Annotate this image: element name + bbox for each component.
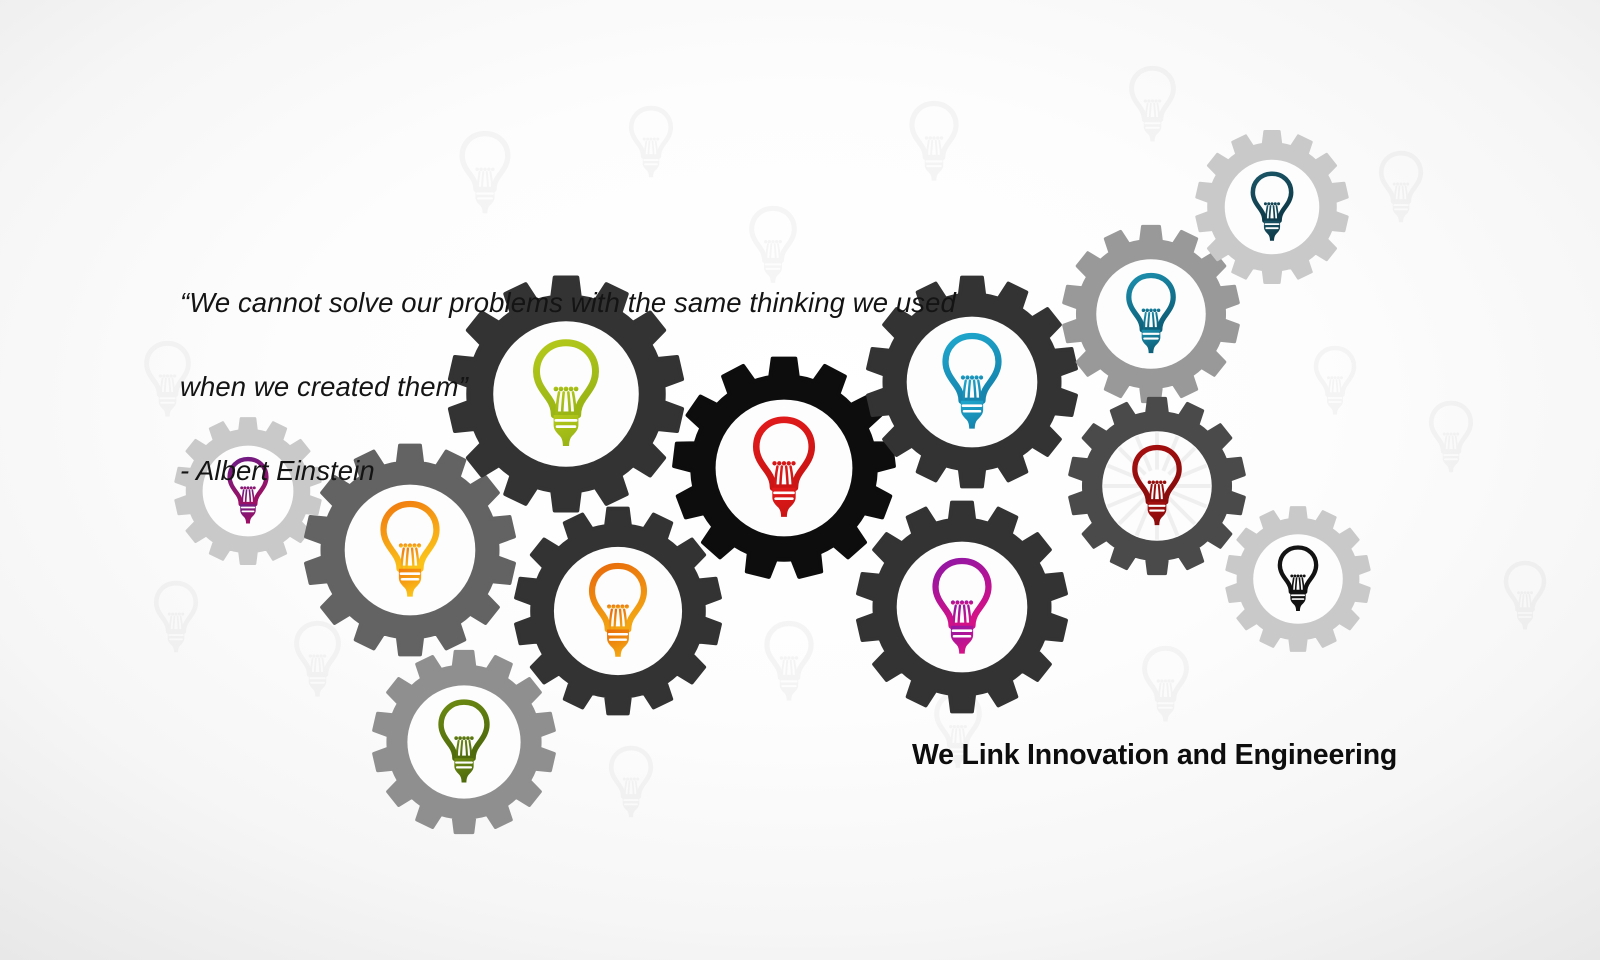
slide-canvas: “We cannot solve our problems with the s… [0,0,1600,960]
gear-black-bulb-far-right [1220,501,1376,657]
tagline: We Link Innovation and Engineering [912,739,1397,772]
quote-line-1: “We cannot solve our problems with the s… [180,282,1000,324]
quote-block: “We cannot solve our problems with the s… [180,240,1000,534]
quote-line-2: when we created them” [180,366,1000,408]
gear-navy-top-corner [1190,125,1354,289]
gear-olive-bottom [367,645,561,839]
quote-attribution: - Albert Einstein [180,450,1000,492]
